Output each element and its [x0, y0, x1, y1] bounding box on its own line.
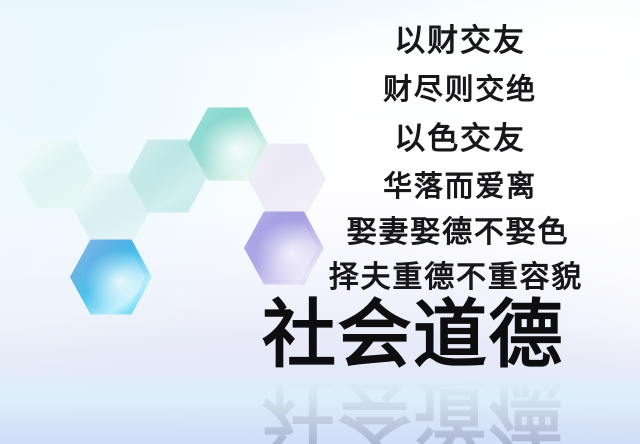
- background-cyan-streak: [0, 374, 640, 418]
- verse-line-6: 择夫重德不重容貌: [310, 263, 602, 293]
- verse-line-1: 以财交友: [330, 26, 590, 57]
- verse-line-3: 以色交友: [330, 124, 590, 155]
- verse-line-5: 娶妻娶德不娶色: [318, 218, 598, 248]
- poster-canvas: 以财交友 财尽则交绝 以色交友 华落而爱离 娶妻娶德不娶色 择夫重德不重容貌 社…: [0, 0, 640, 444]
- verse-line-2: 财尽则交绝: [330, 75, 590, 104]
- page-title: 社会道德: [262, 298, 564, 372]
- verse-line-4: 华落而爱离: [330, 172, 590, 201]
